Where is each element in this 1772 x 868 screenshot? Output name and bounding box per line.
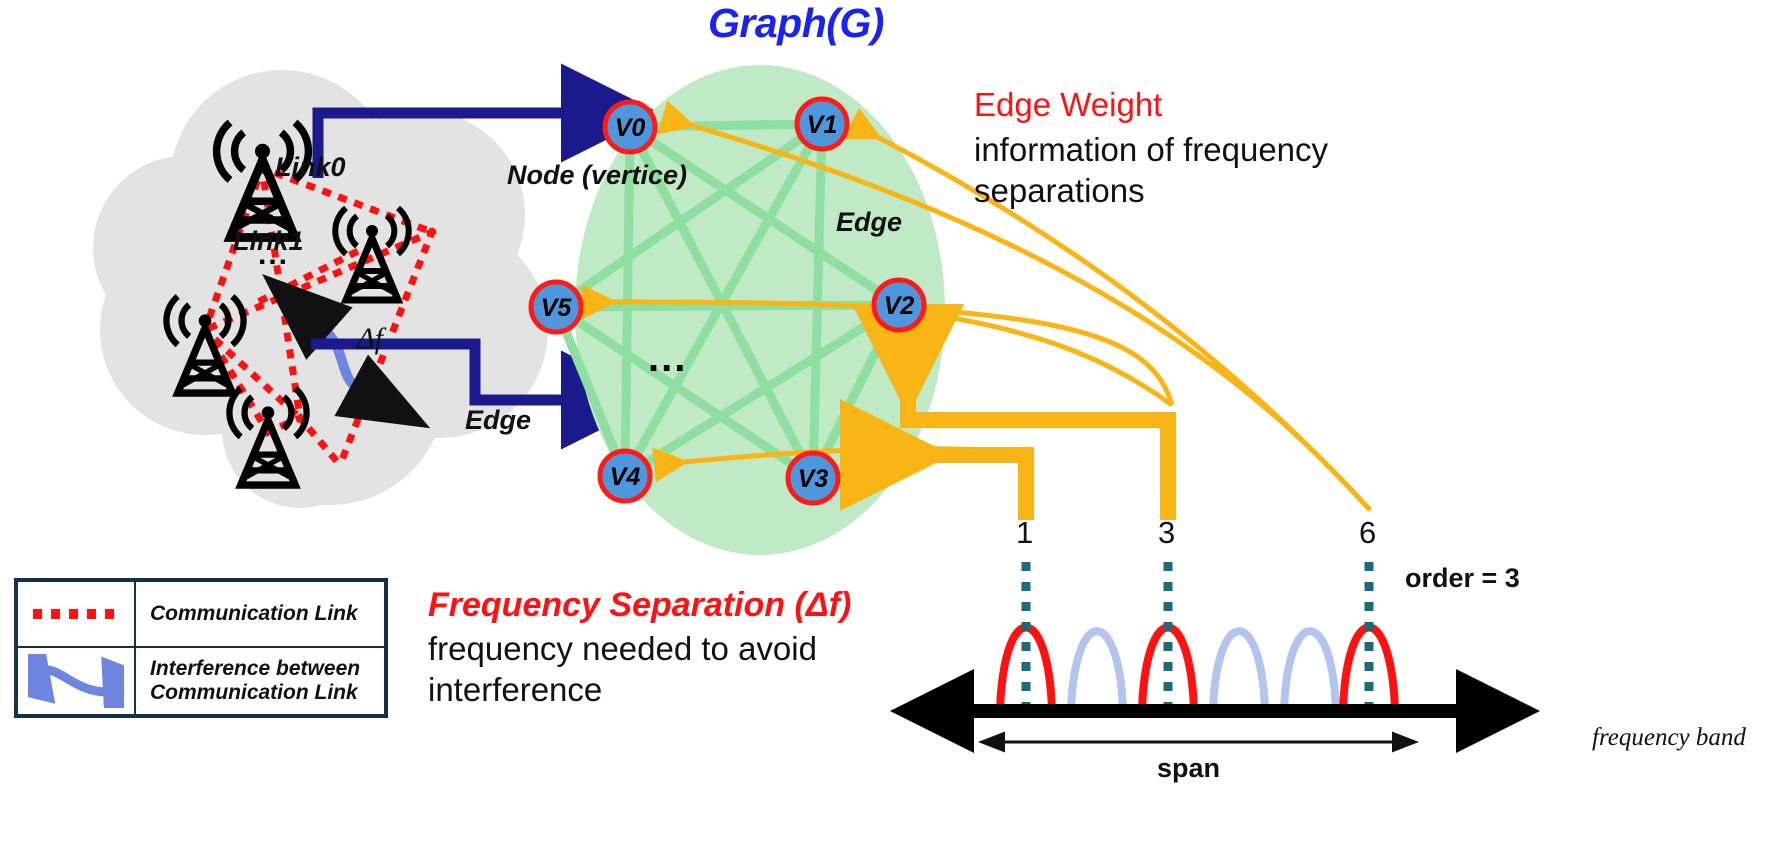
graph-node-v3[interactable]: V3 <box>788 453 838 503</box>
graph-node-v2[interactable]: V2 <box>874 280 924 330</box>
graph-node-v1[interactable]: V1 <box>797 99 847 149</box>
node-label: V5 <box>541 294 573 322</box>
graph-node-v0[interactable]: V0 <box>605 102 655 152</box>
graph-nodes-layer: V0V1V2V3V4V5 <box>0 0 1772 868</box>
node-label: V4 <box>610 463 641 491</box>
node-label: V0 <box>615 114 646 142</box>
diagram-canvas: Graph(G) Link0 Link1 ... Δf Node (vertic… <box>0 0 1772 868</box>
node-label: V1 <box>807 111 838 139</box>
graph-node-v5[interactable]: V5 <box>531 282 581 332</box>
graph-node-v4[interactable]: V4 <box>600 451 650 501</box>
node-label: V2 <box>884 292 915 320</box>
node-label: V3 <box>798 465 829 493</box>
